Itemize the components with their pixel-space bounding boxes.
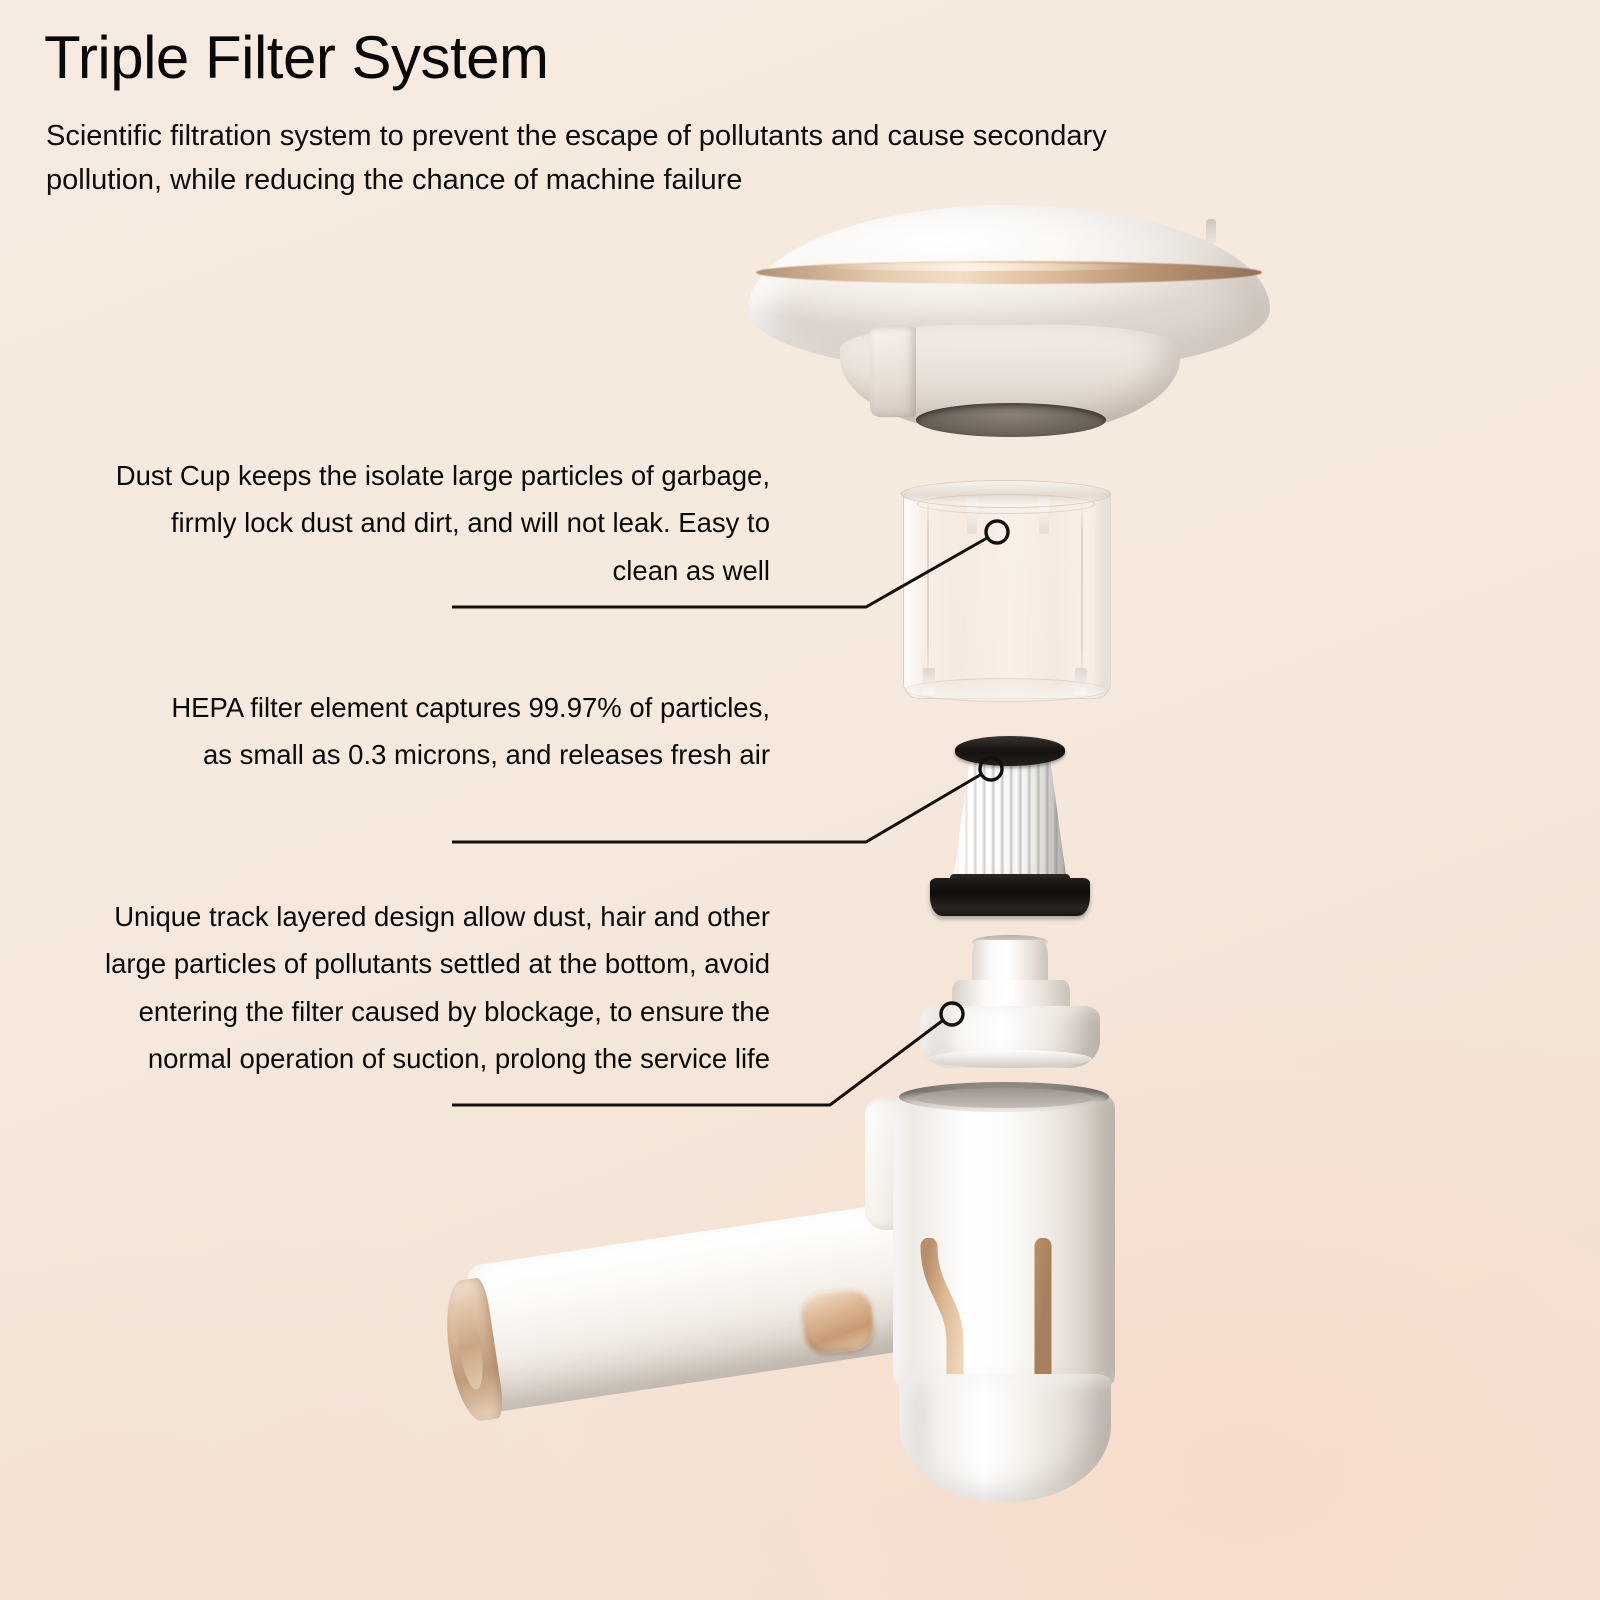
dust-cup-edge-line-left: [927, 500, 929, 680]
product-part-main-body: [455, 1090, 1155, 1590]
power-button[interactable]: [800, 1287, 876, 1356]
product-part-separator-cone: [920, 940, 1100, 1072]
product-part-dust-cup: [903, 480, 1109, 706]
product-exploded-view: [0, 0, 1600, 1600]
dust-cup-inner-rim: [917, 494, 1095, 514]
separator-lip: [928, 1050, 1092, 1068]
product-part-top-lid: [748, 205, 1270, 410]
hepa-top-cap: [955, 736, 1065, 766]
infographic-page: Triple Filter System Scientific filtrati…: [0, 0, 1600, 1600]
lid-gold-band-highlight: [818, 263, 1148, 271]
lid-opening: [916, 403, 1106, 437]
product-part-hepa-filter: [930, 736, 1090, 914]
dust-cup-foot-left: [923, 668, 935, 694]
body-top-opening-inner: [915, 1088, 1093, 1108]
callout-hepa-filter: HEPA filter element captures 99.97% of p…: [170, 684, 770, 779]
dust-cup-foot-right: [1075, 668, 1087, 694]
callout-track-design: Unique track layered design allow dust, …: [52, 893, 770, 1082]
callout-dust-cup: Dust Cup keeps the isolate large particl…: [100, 452, 770, 594]
hepa-bottom-flange: [930, 878, 1090, 916]
hepa-pleat-shading: [952, 754, 1068, 890]
lid-latch-tab: [870, 327, 916, 417]
dust-cup-edge-line-right: [1081, 500, 1083, 680]
